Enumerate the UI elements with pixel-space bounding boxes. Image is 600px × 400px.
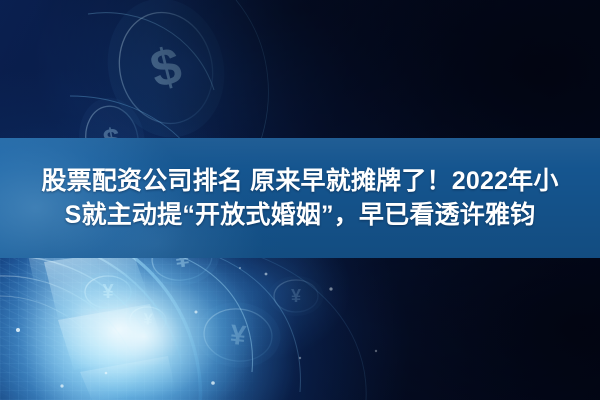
headline-band-sheen [0, 138, 600, 258]
headline-line-1: 股票配资公司排名 原来早就摊牌了！2022年小 [41, 165, 558, 197]
news-thumbnail-image: $$¥¥¥¥¥ 股票配资公司排名 原来早就摊牌了！2022年小 S就主动提“开放… [0, 0, 600, 400]
headline-band: 股票配资公司排名 原来早就摊牌了！2022年小 S就主动提“开放式婚姻”，早已看… [0, 138, 600, 258]
headline-line-2: S就主动提“开放式婚姻”，早已看透许雅钧 [65, 199, 536, 231]
